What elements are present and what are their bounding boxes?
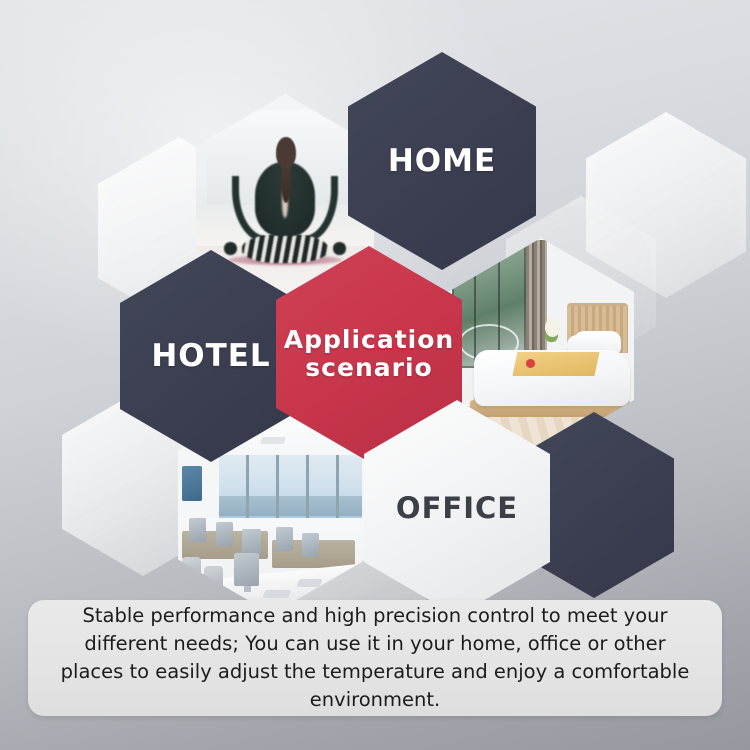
center-title-line-2: scenario — [305, 353, 432, 382]
center-title-line-1: Application — [284, 325, 454, 354]
caption-text: Stable performance and high precision co… — [54, 602, 696, 714]
caption-panel: Stable performance and high precision co… — [28, 600, 722, 716]
tile-home[interactable]: HOME — [348, 52, 536, 270]
tile-home-label: HOME — [388, 144, 496, 179]
tile-hotel-label: HOTEL — [151, 339, 270, 374]
poster-canvas: HOME HOTEL Application scenario OFFICE S… — [0, 0, 750, 750]
tile-office-label: OFFICE — [396, 492, 518, 524]
tile-application-scenario-label: Application scenario — [284, 326, 454, 382]
